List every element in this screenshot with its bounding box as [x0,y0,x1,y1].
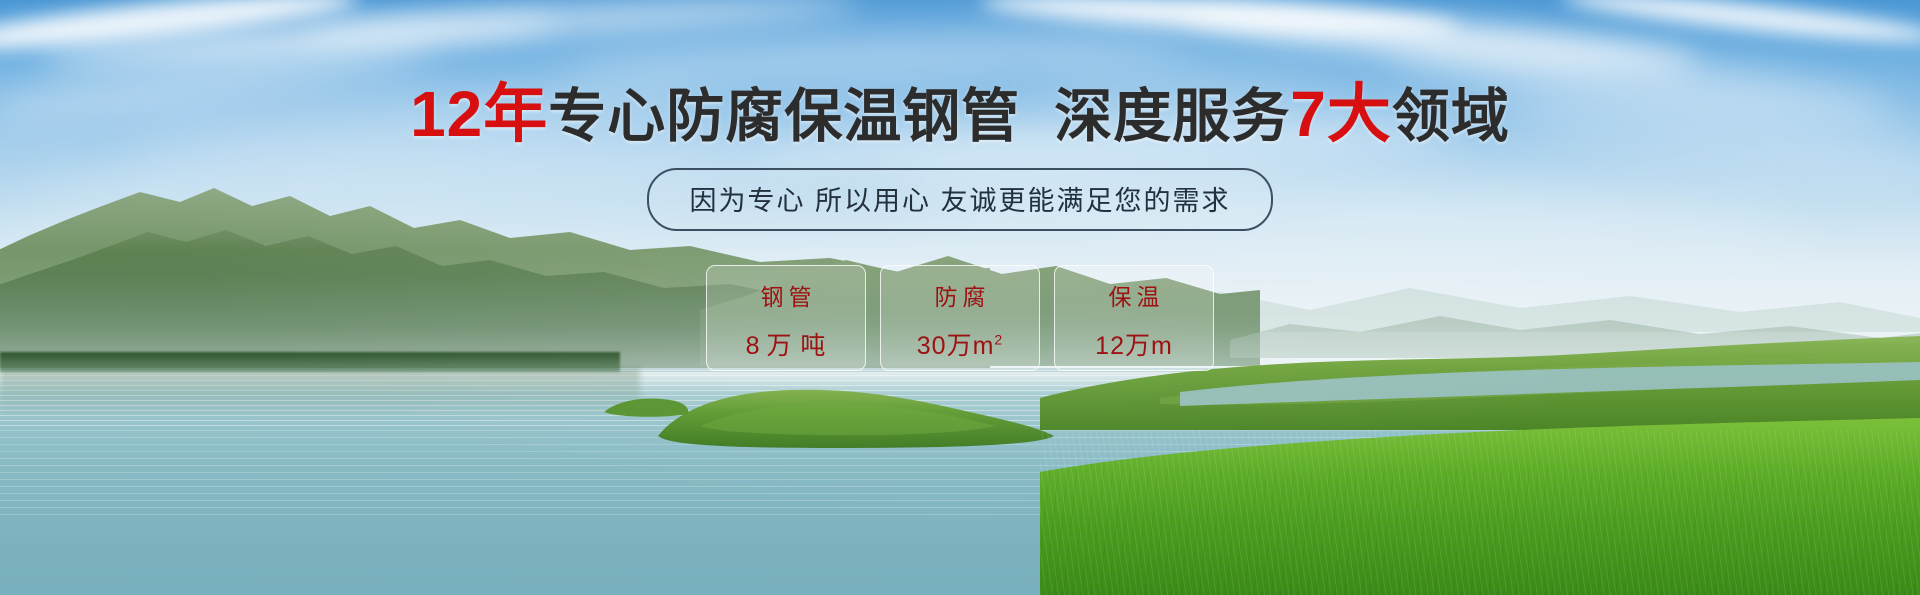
stat-card[interactable]: 防腐 30万m2 [880,265,1040,371]
headline-service: 深度服务 [1054,84,1290,149]
hero-banner: 12年专心防腐保温钢管深度服务7大领域 因为专心 所以用心 友诚更能满足您的需求… [0,0,1920,595]
stat-value-superscript: 2 [994,332,1003,348]
banner-subtitle-wrap: 因为专心 所以用心 友诚更能满足您的需求 [0,168,1920,231]
stat-value-number: 8 [746,332,761,360]
banner-headline: 12年专心防腐保温钢管深度服务7大领域 [0,82,1920,146]
stat-value-number: 12 [1095,332,1125,360]
stat-value-unit: 万m [947,332,995,360]
banner-subtitle: 因为专心 所以用心 友诚更能满足您的需求 [647,168,1272,231]
headline-main: 专心防腐保温钢管 [548,84,1020,149]
stat-card[interactable]: 钢管 8万 吨 [706,265,866,371]
stat-value-unit: 万m [1125,332,1173,360]
stat-value-unit: 万 吨 [766,332,826,360]
stat-card-value: 30万m2 [917,326,1003,362]
headline-fields: 领域 [1392,84,1510,149]
small-islet-left [600,392,690,418]
stat-card[interactable]: 保温 12万m [1054,265,1214,371]
grass-island [640,378,1060,448]
headline-fields-count: 7大 [1290,78,1392,150]
stat-value-number: 30 [917,332,947,360]
stat-card-label: 保温 [1104,278,1165,312]
headline-years: 12年 [410,78,548,150]
stat-card-label: 钢管 [756,278,817,312]
stat-cards: 钢管 8万 吨 防腐 30万m2 保温 12万m [0,265,1920,371]
grass-texture [1040,470,1920,595]
stat-card-value: 12万m [1095,326,1173,362]
stat-card-label: 防腐 [930,278,991,312]
stat-card-value: 8万 吨 [746,326,827,362]
